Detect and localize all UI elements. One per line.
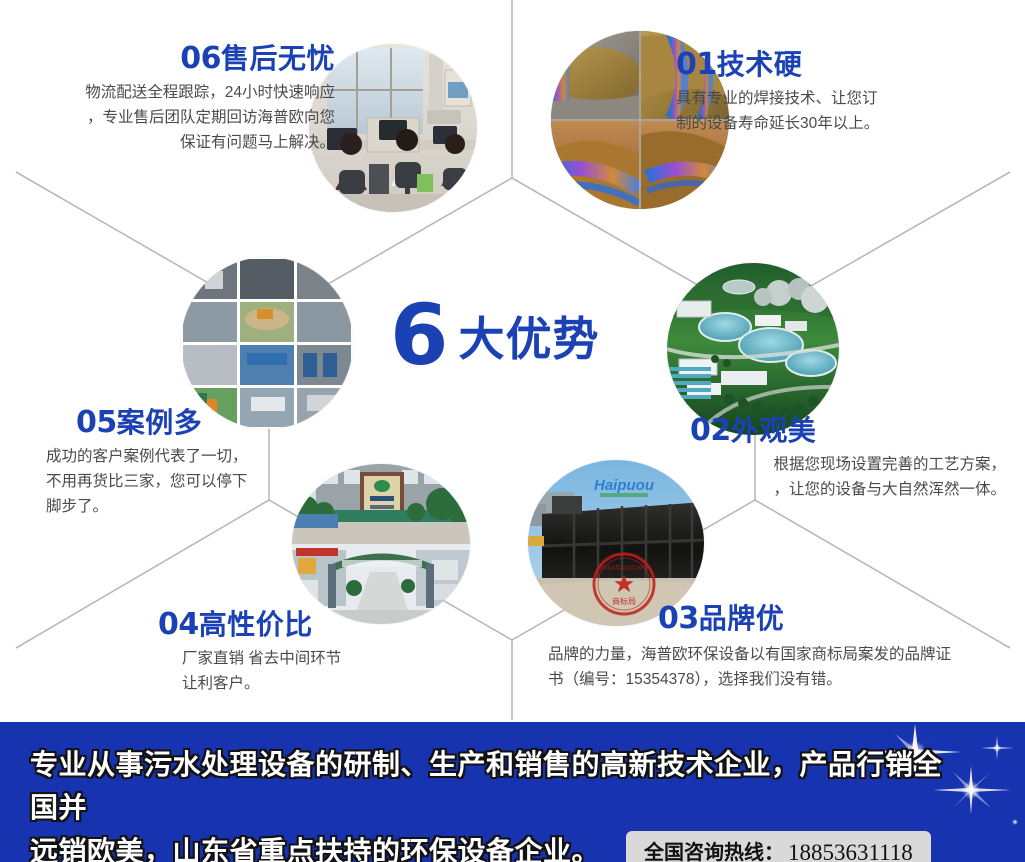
feature-appearance-number: 02 (690, 413, 731, 448)
feature-cases: 05案例多 成功的客户案例代表了一切， 不用再货比三家，您可以停下 脚步了。 (76, 406, 376, 519)
feature-after-sales-heading: 06售后无忧 (10, 42, 335, 76)
feature-brand-heading: 03品牌优 (658, 602, 1018, 636)
hotline-box[interactable]: 全国咨询热线：18853631118 (626, 831, 931, 862)
feature-text-line: 让利客户。 (182, 671, 458, 696)
feature-price-title: 高性价比 (199, 609, 313, 640)
feature-cases-heading: 05案例多 (76, 406, 376, 440)
feature-text-line: ，专业售后团队定期回访海普欧向您 (10, 105, 335, 130)
feature-cases-title: 案例多 (117, 407, 203, 438)
bottom-banner: 专业从事污水处理设备的研制、生产和销售的高新技术企业，产品行销全国并 远销欧美，… (0, 722, 1025, 862)
feature-text-line: 具有专业的焊接技术、让您订 (676, 86, 1006, 111)
center-number: 6 (390, 298, 446, 374)
feature-brand-title: 品牌优 (699, 603, 785, 634)
feature-technology-heading: 01技术硬 (676, 48, 1006, 82)
svg-text:Haipuou: Haipuou (594, 477, 654, 494)
center-title: 6 大优势 (390, 288, 650, 383)
hotline-number: 18853631118 (788, 836, 913, 862)
feature-technology-number: 01 (676, 47, 717, 82)
banner-line-2: 远销欧美，山东省重点扶持的环保设备企业。 (30, 831, 600, 862)
feature-text-line: 成功的客户案例代表了一切， (46, 444, 376, 469)
feature-cases-number: 05 (76, 405, 117, 440)
feature-price: 04高性价比 厂家直销 省去中间环节 让利客户。 (158, 608, 458, 696)
feature-technology: 01技术硬 具有专业的焊接技术、让您订 制的设备寿命延长30年以上。 (676, 48, 1006, 136)
feature-brand-number: 03 (658, 601, 699, 636)
aerial-plant-photo (667, 263, 839, 435)
feature-appearance-title: 外观美 (731, 415, 817, 446)
hotline-label: 全国咨询热线： (644, 838, 784, 862)
infographic-canvas: Haipuou 商标局 2014年10月29日 6 大优势 06售后无忧 物流配… (0, 0, 1025, 862)
feature-text-line: 物流配送全程跟踪，24小时快速响应 (10, 80, 335, 105)
feature-text-line: 保证有问题马上解决。 (10, 130, 335, 155)
banner-line-1: 专业从事污水处理设备的研制、生产和销售的高新技术企业，产品行销全国并 (30, 744, 960, 829)
feature-appearance-heading: 02外观美 (690, 414, 1006, 448)
feature-cases-body: 成功的客户案例代表了一切， 不用再货比三家，您可以停下 脚步了。 (46, 444, 376, 519)
feature-text-line: 厂家直销 省去中间环节 (182, 646, 458, 671)
svg-text:2014年10月29日: 2014年10月29日 (600, 564, 649, 572)
feature-after-sales-title: 售后无忧 (221, 43, 335, 74)
feature-technology-body: 具有专业的焊接技术、让您订 制的设备寿命延长30年以上。 (676, 86, 1006, 136)
feature-technology-title: 技术硬 (717, 49, 803, 80)
feature-brand: 03品牌优 品牌的力量，海普欧环保设备以有国家商标局案发的品牌证 书（编号：15… (548, 602, 1018, 692)
feature-text-line: 脚步了。 (46, 494, 376, 519)
feature-price-heading: 04高性价比 (158, 608, 458, 642)
feature-after-sales-body: 物流配送全程跟踪，24小时快速响应 ，专业售后团队定期回访海普欧向您 保证有问题… (10, 80, 335, 155)
banner-line-2-row: 远销欧美，山东省重点扶持的环保设备企业。 全国咨询热线：18853631118 (30, 829, 960, 862)
feature-text-line: ，让您的设备与大自然浑然一体。 (690, 477, 1006, 502)
feature-brand-body: 品牌的力量，海普欧环保设备以有国家商标局案发的品牌证 书（编号：15354378… (548, 642, 1018, 692)
feature-price-number: 04 (158, 607, 199, 642)
feature-after-sales: 06售后无忧 物流配送全程跟踪，24小时快速响应 ，专业售后团队定期回访海普欧向… (10, 42, 335, 155)
feature-text-line: 品牌的力量，海普欧环保设备以有国家商标局案发的品牌证 (548, 642, 1018, 667)
feature-text-line: 根据您现场设置完善的工艺方案， (690, 452, 1006, 477)
feature-appearance: 02外观美 根据您现场设置完善的工艺方案， ，让您的设备与大自然浑然一体。 (690, 414, 1006, 502)
banner-text: 专业从事污水处理设备的研制、生产和销售的高新技术企业，产品行销全国并 远销欧美，… (30, 744, 960, 862)
feature-text-line: 不用再货比三家，您可以停下 (46, 469, 376, 494)
feature-appearance-body: 根据您现场设置完善的工艺方案， ，让您的设备与大自然浑然一体。 (690, 452, 1006, 502)
case-collage-photo (181, 257, 353, 429)
center-label: 大优势 (458, 303, 599, 369)
feature-text-line: 制的设备寿命延长30年以上。 (676, 111, 1006, 136)
feature-text-line: 书（编号：15354378），选择我们没有错。 (548, 667, 1018, 692)
feature-price-body: 厂家直销 省去中间环节 让利客户。 (182, 646, 458, 696)
feature-after-sales-number: 06 (180, 41, 221, 76)
